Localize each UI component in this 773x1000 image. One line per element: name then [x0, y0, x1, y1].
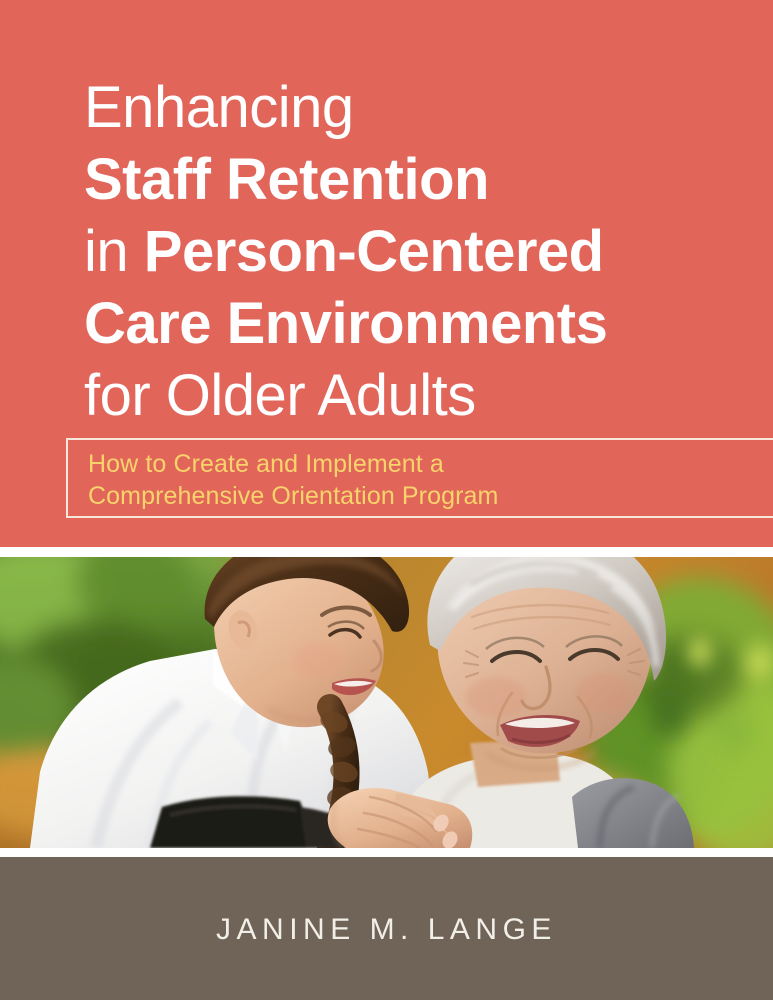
title-line-3-text: Person-Centered — [144, 219, 604, 284]
subtitle-line-1: How to Create and Implement a — [88, 448, 498, 480]
subtitle-line-2: Comprehensive Orientation Program — [88, 480, 498, 512]
subtitle-box: How to Create and Implement a Comprehens… — [66, 438, 773, 518]
author-name: JANINE M. LANGE — [0, 913, 773, 947]
book-title: Enhancing Staff Retention in Person-Cent… — [84, 72, 744, 432]
title-line-4: Care Environments — [84, 288, 744, 360]
author-band: JANINE M. LANGE — [0, 857, 773, 1000]
title-panel: Enhancing Staff Retention in Person-Cent… — [0, 0, 773, 547]
title-line-5-text: for Older Adults — [84, 363, 476, 428]
title-line-2-text: Staff Retention — [84, 147, 489, 212]
title-line-1: Enhancing — [84, 72, 744, 144]
book-subtitle: How to Create and Implement a Comprehens… — [88, 448, 498, 512]
title-line-5: for Older Adults — [84, 360, 744, 432]
title-line-3-prefix: in — [84, 219, 144, 284]
book-cover: Enhancing Staff Retention in Person-Cent… — [0, 0, 773, 1000]
title-line-2: Staff Retention — [84, 144, 744, 216]
photograph-illustration — [0, 557, 773, 848]
title-line-3: in Person-Centered — [84, 216, 744, 288]
title-line-1-text: Enhancing — [84, 75, 354, 140]
cover-photograph — [0, 557, 773, 848]
title-line-4-text: Care Environments — [84, 291, 607, 356]
